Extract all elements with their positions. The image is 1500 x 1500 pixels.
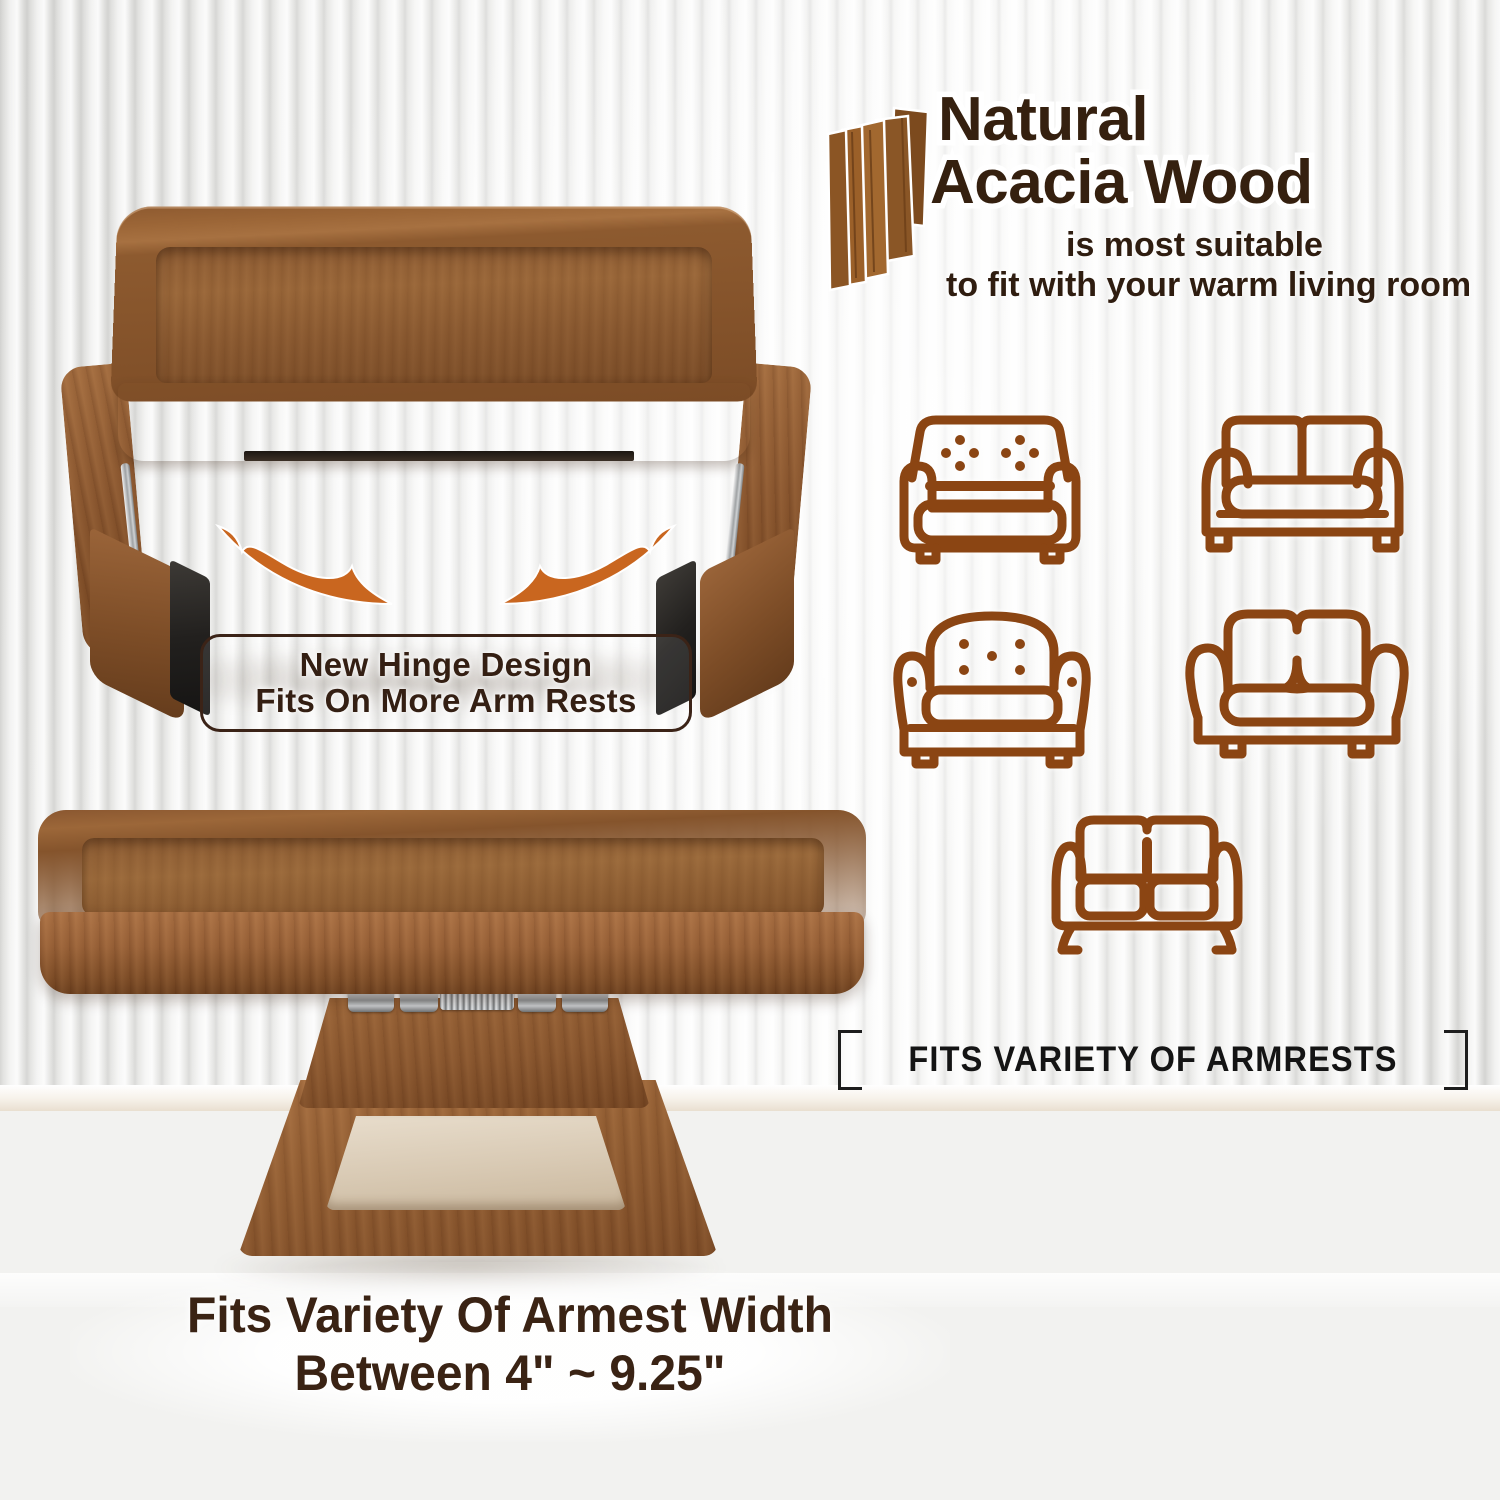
pedestal-base-cutout <box>326 1116 626 1210</box>
product-marketing-image: New Hinge Design Fits On More Arm Rests <box>0 0 1500 1500</box>
wood-planks-icon <box>824 106 936 296</box>
headline-text-group: Natural Acacia Wood is most suitable to … <box>938 88 1478 305</box>
hinge-motion-arrows <box>196 508 696 638</box>
bottom-tray-front-edge <box>40 912 864 994</box>
hinge-badge-line2: Fits On More Arm Rests <box>255 683 636 719</box>
bottom-caption-block: Fits Variety Of Armest Width Between 4" … <box>80 1286 940 1402</box>
headline-sub1: is most suitable <box>1066 226 1478 265</box>
headline-line2: Acacia Wood <box>930 151 1478 214</box>
curved-arrow-right-icon <box>500 526 674 604</box>
hinge-design-badge: New Hinge Design Fits On More Arm Rests <box>200 634 692 732</box>
tray-front-edge <box>118 383 750 461</box>
loveseat-square-icon <box>1190 408 1415 568</box>
loveseat-modern-icon <box>1030 806 1265 966</box>
headline-block: Natural Acacia Wood is most suitable to … <box>820 88 1480 328</box>
armrest-label-text: FITS VARIETY OF ARMRESTS <box>908 1040 1397 1080</box>
curved-arrow-left-icon <box>218 526 392 604</box>
tray-inner-surface <box>156 247 712 383</box>
bottom-caption-line1: Fits Variety Of Armest Width <box>97 1286 923 1344</box>
bottom-caption-line2: Between 4" ~ 9.25" <box>97 1344 923 1402</box>
armchair-tufted-icon <box>890 408 1090 568</box>
product-bottom-tray-with-hinge <box>30 800 910 1300</box>
sofa-types-grid <box>890 408 1456 978</box>
loveseat-plush-icon <box>1180 600 1415 770</box>
pedestal-upright-plate <box>298 998 650 1108</box>
headline-line1: Natural <box>938 88 1478 151</box>
fits-armrests-label: FITS VARIETY OF ARMRESTS <box>838 1026 1468 1094</box>
bottom-tray-inner-surface <box>82 838 824 916</box>
headline-sub2: to fit with your warm living room <box>946 266 1478 305</box>
bracket-right-icon <box>1444 1030 1468 1090</box>
bracket-left-icon <box>838 1030 862 1090</box>
armchair-rolled-arm-icon <box>890 604 1095 774</box>
hinge-badge-line1: New Hinge Design <box>300 647 593 683</box>
